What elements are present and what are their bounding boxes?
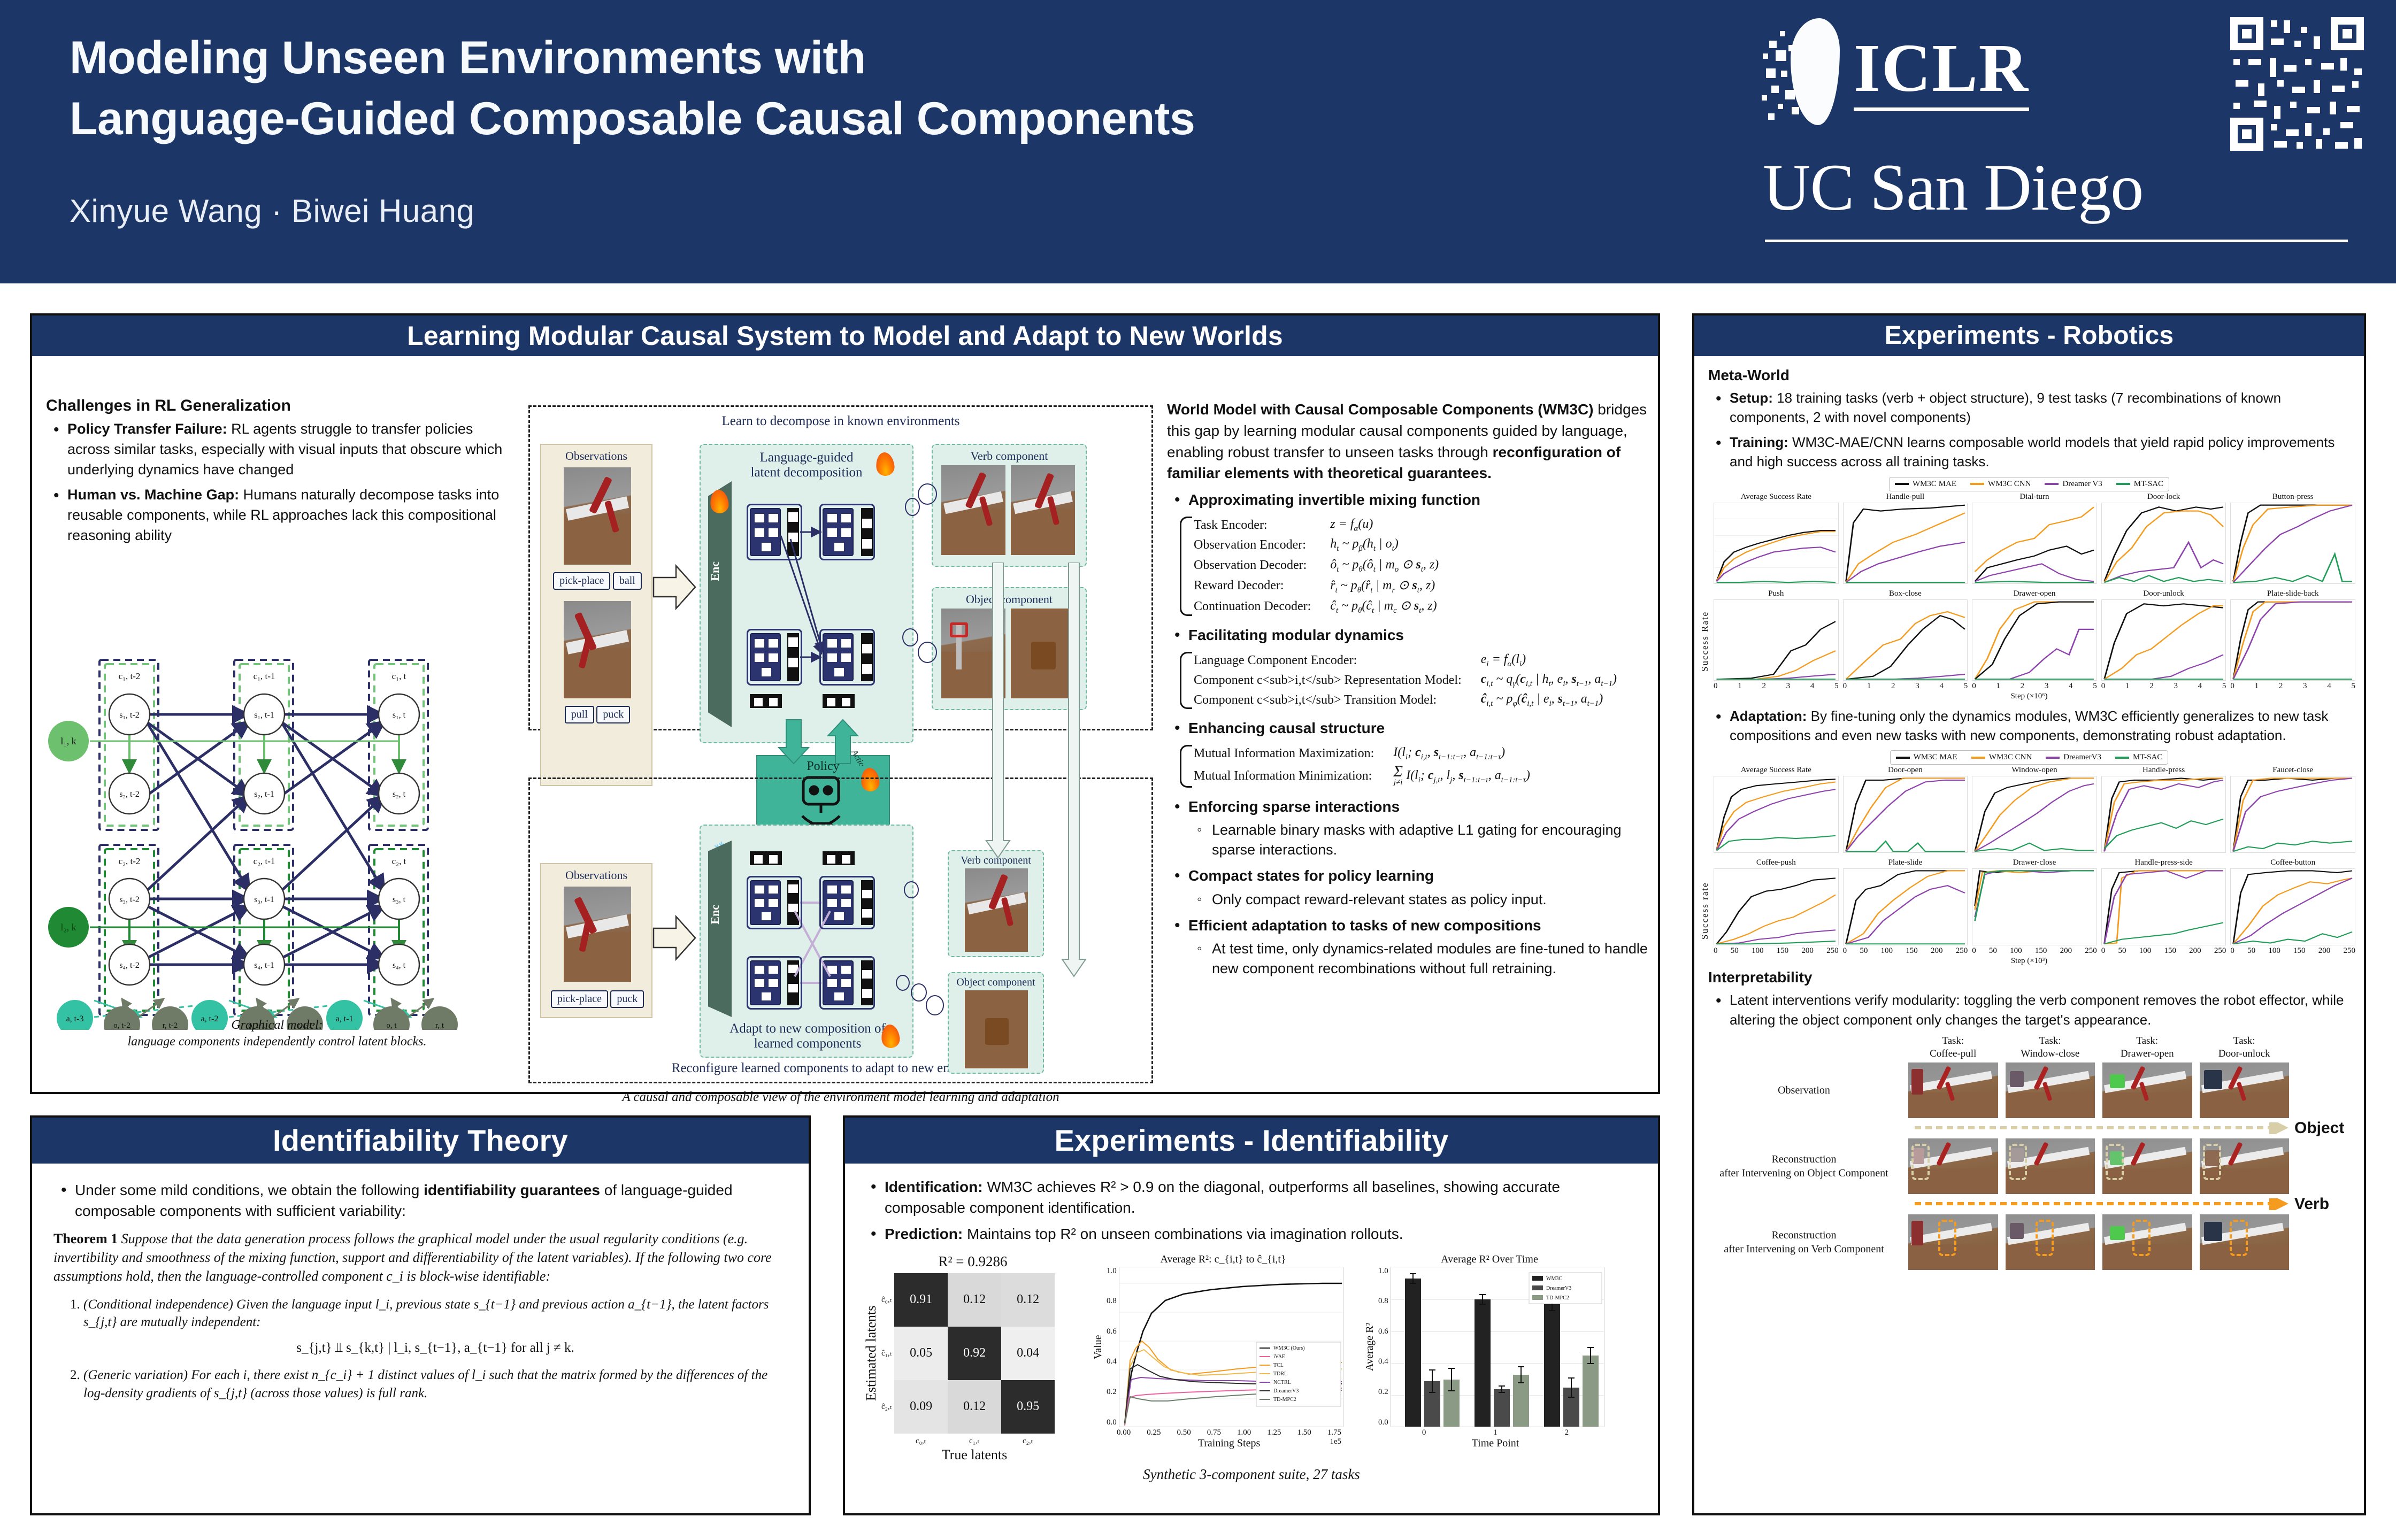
- panel-exp-identifiability: Experiments - Identifiability Identifica…: [843, 1115, 1660, 1515]
- method-bullet-label: Enhancing causal structure: [1188, 720, 1385, 736]
- xtick-row: 012345: [2101, 682, 2226, 691]
- challenge-item: Human vs. Machine Gap: Humans naturally …: [46, 485, 517, 545]
- observations-label: Observations: [541, 449, 651, 463]
- bar-xtick: 2: [1531, 1428, 1602, 1437]
- svg-text:s₂, t-2: s₂, t-2: [119, 790, 140, 799]
- robotics-bullet: Adaptation: By fine-tuning only the dyna…: [1708, 706, 2350, 745]
- legend-label: Dreamer V3: [2062, 480, 2102, 489]
- interp-image: [1908, 1062, 1998, 1118]
- theorem-label: Theorem 1: [53, 1231, 118, 1246]
- identifiability-bullet: Under some mild conditions, we obtain th…: [53, 1180, 787, 1221]
- line-xtick: 0.75: [1207, 1428, 1221, 1437]
- method-bullet: Facilitating modular dynamics: [1167, 625, 1648, 645]
- exp-bullet-label: Prediction:: [885, 1226, 963, 1242]
- eq-rhs: ht ~ pβ(ht | ot): [1330, 535, 1439, 555]
- interp-task-name: Coffee-pull: [1930, 1048, 1976, 1059]
- eq-rhs: Σ j≠i I(li; cj,t, lj, st−1:t−τ, at−1:t−τ…: [1393, 764, 1530, 789]
- arch-top-title: Learn to decompose in known environments: [528, 414, 1153, 429]
- mini-chart: Push: [1714, 589, 1839, 681]
- r2-bar-figure: Average R² Over Time Average R² 1.0 0.8 …: [1364, 1253, 1615, 1450]
- bar-xtick: 0: [1388, 1428, 1460, 1437]
- robotics-intro: Meta-World Setup: 18 training tasks (ver…: [1694, 356, 2364, 472]
- heatmap-cell: 0.12: [948, 1380, 1001, 1434]
- heatmap-cell: 0.92: [948, 1327, 1001, 1380]
- mini-chart-title: Handle-press-side: [2101, 858, 2226, 867]
- thought-bubbles-icon: [900, 878, 939, 915]
- arrow-right-icon: [652, 561, 697, 613]
- method-subbullet: Learnable binary masks with adaptive L1 …: [1188, 820, 1648, 860]
- component-reuse-arrows: [985, 563, 1017, 862]
- line-chart-title: Average R²: c_{i,t} to ĉ_{i,t}: [1092, 1253, 1354, 1266]
- metaworld-heading: Meta-World: [1708, 367, 2350, 384]
- bar-ytick: 0.2: [1378, 1388, 1388, 1397]
- component-outline: [747, 876, 802, 929]
- mini-chart-title: Handle-pull: [1843, 492, 1968, 502]
- eq-lhs: Component c<sub>i,t</sub> Representation…: [1194, 671, 1481, 690]
- eq-lhs: Mutual Information Maximization:: [1194, 744, 1393, 764]
- svg-text:s₃, t: s₃, t: [393, 895, 406, 904]
- theorem-block: Theorem 1 Suppose that the data generati…: [53, 1230, 787, 1285]
- y-axis-label: Success rate: [1700, 779, 1710, 940]
- assumption-text: (Generic variation) For each i, there ex…: [83, 1368, 767, 1400]
- iclr-brain-icon: [1760, 15, 1840, 130]
- object-thumbnail: [965, 990, 1028, 1068]
- line-xtick: 0.25: [1147, 1428, 1161, 1437]
- arrow-right-icon: [652, 912, 697, 964]
- verb-thumbnail: [941, 465, 1005, 555]
- eq-rhs: ci,t ~ qγ(ci,t | ht, ei, st−1, at−1): [1481, 671, 1617, 690]
- mini-chart: Button-press: [2230, 492, 2355, 584]
- interp-image: [2006, 1138, 2095, 1194]
- robotics-bullet-text: WM3C-MAE/CNN learns composable world mod…: [1730, 434, 2334, 469]
- legend-item: WM3C CNN: [1971, 753, 2032, 762]
- ucsd-underline: [1765, 240, 2348, 242]
- thought-bubbles-icon: [903, 482, 938, 520]
- line-xtick: 1.00: [1237, 1428, 1251, 1437]
- interp-task-name: Door-unlock: [2218, 1048, 2270, 1059]
- eq-lhs: Observation Encoder:: [1194, 535, 1330, 555]
- svg-text:c₁, t: c₁, t: [392, 671, 406, 681]
- interp-image: [2102, 1214, 2192, 1270]
- heatmap-cell: 0.12: [1001, 1273, 1055, 1327]
- method-subbullet: At test time, only dynamics-related modu…: [1188, 939, 1648, 979]
- exp-bullet-label: Identification:: [885, 1179, 983, 1195]
- svg-text:s₁, t-2: s₁, t-2: [119, 711, 140, 720]
- equation-group-mixing: Task Encoder: z = fα(u) Observation Enco…: [1180, 515, 1648, 617]
- robotics-bullet-label: Setup:: [1730, 390, 1773, 406]
- eq-lhs: Component c<sub>i,t</sub> Transition Mod…: [1194, 690, 1481, 710]
- svg-text:WM3C: WM3C: [1546, 1276, 1562, 1282]
- legend-item: WM3C MAE: [1896, 753, 1957, 762]
- mini-chart: Coffee-button: [2230, 858, 2355, 945]
- object-flow-arrow: [1908, 1122, 2289, 1134]
- eq-rhs: z = fα(u): [1330, 515, 1439, 535]
- object-component-label: Object component: [949, 976, 1043, 989]
- svg-text:TD-MPC2: TD-MPC2: [1273, 1397, 1296, 1403]
- component-outline: [819, 504, 875, 560]
- mini-chart-title: Faucet-close: [2230, 766, 2355, 775]
- heatmap-cell: 0.91: [894, 1273, 948, 1327]
- svg-text:s₄, t: s₄, t: [393, 961, 406, 970]
- mini-chart: Average Success Rate: [1714, 766, 1839, 853]
- eq-rhs: ei = fα(li): [1481, 651, 1617, 671]
- assumption-equation: s_{j,t} ⫫ s_{k,t} | l_i, s_{t−1}, a_{t−1…: [83, 1339, 787, 1357]
- svg-text:WM3C (Ours): WM3C (Ours): [1273, 1345, 1305, 1351]
- page-title: Modeling Unseen Environments with Langua…: [70, 28, 1727, 149]
- mini-chart-title: Push: [1714, 589, 1839, 598]
- bar-ytick: 0.6: [1378, 1327, 1388, 1336]
- legend-item: WM3C CNN: [1970, 480, 2031, 489]
- assumption-text: (Conditional independence) Given the lan…: [83, 1297, 769, 1330]
- training-chart-row-1: Average Success Rate Handle-pull Dial-t: [1705, 492, 2364, 584]
- mini-chart-title: Average Success Rate: [1714, 492, 1839, 502]
- svg-text:s₄, t-2: s₄, t-2: [119, 961, 140, 970]
- adaptation-chart-row-2: Coffee-push Plate-slide Drawer-close: [1705, 858, 2364, 945]
- legend-item: WM3C MAE: [1895, 480, 1956, 489]
- y-axis-label: Success Rate: [1700, 506, 1710, 672]
- robotics-adaptation-figure: WM3C MAE WM3C CNN DreamerV3 MT-SAC Succe…: [1694, 750, 2364, 966]
- interp-row-verb: [1908, 1214, 2289, 1270]
- mini-chart: Handle-press: [2101, 766, 2226, 853]
- observations-label: Observations: [541, 868, 651, 882]
- panel-main-title: Learning Modular Causal System to Model …: [32, 315, 1658, 356]
- xtick-row: 050100150200250: [2101, 946, 2226, 956]
- xtick-row: 012345: [1972, 682, 2097, 691]
- x-axis-label: Step (×10³): [1694, 957, 2364, 966]
- method-bullet-label: Efficient adaptation to tasks of new com…: [1188, 917, 1541, 934]
- mini-chart-title: Window-open: [1972, 766, 2097, 775]
- architecture-caption: A causal and composable view of the envi…: [525, 1090, 1156, 1105]
- mini-chart: Handle-pull: [1843, 492, 1968, 584]
- thought-bubbles-icon: [900, 627, 938, 665]
- component-outline: [819, 876, 875, 929]
- encoder-slab: Enc: [708, 481, 732, 727]
- interpretability-figure: Task:Coffee-pull Task:Window-close Task:…: [1694, 1035, 2364, 1270]
- bar-ytick: 0.4: [1378, 1357, 1388, 1366]
- x-exponent: 1e5: [1330, 1437, 1341, 1446]
- legend-item: MT-SAC: [2116, 480, 2163, 489]
- svg-text:l₁, k: l₁, k: [60, 736, 76, 746]
- line-xtick: 1.25: [1267, 1428, 1281, 1437]
- svg-text:l₂, k: l₂, k: [60, 922, 76, 933]
- heatmap-ytick: ĉ₁,ₜ: [881, 1348, 892, 1358]
- observation-thumbnail: [564, 467, 631, 565]
- line-ylabel: Value: [1092, 1267, 1104, 1427]
- xtick-row: 012345: [1843, 682, 1968, 691]
- title-line-1: Modeling Unseen Environments with: [70, 28, 1727, 89]
- heatmap-xtick: c₂,ₜ: [1023, 1436, 1033, 1446]
- method-bullet: Enforcing sparse interactions Learnable …: [1167, 796, 1648, 860]
- component-outline: [747, 956, 802, 1010]
- line-xtick: 1.50: [1297, 1428, 1311, 1437]
- mini-chart-title: Dial-turn: [1972, 492, 2097, 502]
- line-ytick: 0.8: [1107, 1297, 1117, 1306]
- assumption-item: (Generic variation) For each i, there ex…: [83, 1366, 787, 1402]
- svg-text:TD-MPC2: TD-MPC2: [1546, 1295, 1569, 1301]
- heatmap-cell: 0.09: [894, 1380, 948, 1434]
- method-bullet: Compact states for policy learning Only …: [1167, 865, 1648, 909]
- method-subbullet: Only compact reward-relevant states as p…: [1188, 890, 1648, 910]
- iclr-logo: ICLR: [1760, 15, 2029, 130]
- bar-xtick: 1: [1460, 1428, 1531, 1437]
- mini-chart: Box-close: [1843, 589, 1968, 681]
- heatmap-title: R² = 0.9286: [863, 1253, 1082, 1270]
- mini-chart: Handle-press-side: [2101, 858, 2226, 945]
- interp-task-header: Task:Drawer-open: [2102, 1035, 2192, 1060]
- component-outline: [819, 956, 875, 1010]
- line-ytick: 0.2: [1107, 1388, 1117, 1397]
- svg-text:c₂, t-1: c₂, t-1: [254, 856, 275, 866]
- interp-image: [2200, 1138, 2290, 1194]
- challenge-item: Policy Transfer Failure: RL agents strug…: [46, 419, 517, 480]
- interp-row-label-observation: Observation: [1705, 1083, 1903, 1097]
- exp-bullet-text: WM3C achieves R² > 0.9 on the diagonal, …: [885, 1179, 1560, 1216]
- bar-ytick: 0.8: [1378, 1297, 1388, 1306]
- mini-chart-title: Box-close: [1843, 589, 1968, 598]
- panel-exp-identifiability-title: Experiments - Identifiability: [845, 1118, 1658, 1164]
- eq-lhs: Reward Decoder:: [1194, 576, 1330, 597]
- gm-caption-line1: Graphical model:: [42, 1017, 512, 1034]
- line-ytick: 0.4: [1107, 1357, 1117, 1366]
- mini-chart: Window-open: [1972, 766, 2097, 853]
- observation-thumbnail: [564, 601, 631, 698]
- adaptation-chart-row-1: Average Success Rate Door-open Window-op…: [1705, 766, 2364, 853]
- challenges-block: Challenges in RL Generalization Policy T…: [46, 397, 517, 551]
- legend-label: WM3C CNN: [1988, 480, 2031, 489]
- tag-verb: pick-place: [551, 990, 608, 1008]
- tag-verb: pick-place: [553, 572, 610, 590]
- mini-chart: Coffee-push: [1714, 858, 1839, 945]
- robotics-training-figure: WM3C MAE WM3C CNN Dreamer V3 MT-SAC Succ…: [1694, 477, 2364, 701]
- eq-lhs: Observation Decoder:: [1194, 555, 1330, 576]
- object-component-box-bottom: Object component: [948, 972, 1044, 1074]
- interp-image: [2006, 1214, 2095, 1270]
- svg-text:s₁, t: s₁, t: [393, 711, 406, 720]
- mini-chart-title: Door-lock: [2101, 492, 2226, 502]
- robotics-bullet-text: 18 training tasks (verb + object structu…: [1730, 390, 2281, 425]
- action-bar: [823, 851, 855, 865]
- mini-chart-title: Average Success Rate: [1714, 766, 1839, 775]
- xtick-row: 050100150200250: [1843, 946, 1968, 956]
- mini-chart-title: Drawer-close: [1972, 858, 2097, 867]
- method-bullet: Approximating invertible mixing function: [1167, 489, 1648, 510]
- mini-chart: Door-unlock: [2101, 589, 2226, 681]
- legend-label: WM3C MAE: [1914, 753, 1957, 762]
- heatmap-ylabel: Estimated latents: [863, 1273, 879, 1434]
- legend-label: WM3C CNN: [1989, 753, 2032, 762]
- heatmap-ytick: ĉ₂,ₜ: [881, 1402, 892, 1412]
- method-bullet-label: Approximating invertible mixing function: [1188, 491, 1480, 508]
- legend-label: MT-SAC: [2133, 753, 2162, 762]
- heatmap-figure: R² = 0.9286 Estimated latents ĉ₀,ₜ ĉ₁,ₜ …: [863, 1253, 1082, 1463]
- exp-bullet-text: Maintains top R² on unseen combinations …: [963, 1226, 1403, 1242]
- eq-lhs: Continuation Decoder:: [1194, 596, 1330, 617]
- interp-row-label-object: Reconstructionafter Intervening on Objec…: [1705, 1152, 1903, 1180]
- adaptation-xticks: 050100150200250 050100150200250 05010015…: [1705, 946, 2364, 956]
- xtick-row: 050100150200250: [1714, 946, 1839, 956]
- qr-code-icon: [2230, 17, 2364, 151]
- robotics-bullet: Setup: 18 training tasks (verb + object …: [1708, 388, 2350, 427]
- xtick-row: 050100150200250: [1972, 946, 2097, 956]
- robotics-bullet-label: Adaptation:: [1730, 708, 1807, 724]
- action-bar: [750, 694, 782, 708]
- encoder-label: Enc: [708, 561, 722, 581]
- component-outline: [819, 629, 875, 686]
- line-chart-svg: WM3C (Ours) iVAE TCL TDRL NCTRL DreamerV…: [1119, 1267, 1343, 1427]
- authors: Xinyue Wang · Biwei Huang: [70, 192, 474, 229]
- interp-row-object: [1908, 1138, 2289, 1194]
- svg-text:s₄, t-1: s₄, t-1: [254, 961, 274, 970]
- panel-robotics: Experiments - Robotics Meta-World Setup:…: [1692, 313, 2366, 1515]
- line-xtick: 1.75: [1327, 1428, 1341, 1437]
- exp-ident-bullet: Identification: WM3C achieves R² > 0.9 o…: [863, 1176, 1640, 1218]
- training-chart-row-2: Push Box-close Drawer-open: [1705, 589, 2364, 681]
- interp-image: [1908, 1214, 1998, 1270]
- mini-chart-title: Plate-slide: [1843, 858, 1968, 867]
- method-bullet-label: Enforcing sparse interactions: [1188, 798, 1400, 815]
- arch-observations-bottom: Observations pick-place puck: [540, 863, 652, 1018]
- svg-text:c₁, t-1: c₁, t-1: [254, 671, 275, 681]
- verb-arrow-label: Verb: [2294, 1195, 2353, 1213]
- mini-chart: Faucet-close: [2230, 766, 2355, 853]
- mini-chart: Door-open: [1843, 766, 1968, 853]
- logo-group: ICLR: [1760, 10, 2364, 272]
- thought-bubbles-icon: [894, 974, 946, 1017]
- panel-identifiability-title: Identifiability Theory: [32, 1118, 809, 1164]
- svg-text:c₁, t-2: c₁, t-2: [119, 671, 141, 681]
- training-xticks: 012345 012345 012345 012345 012345: [1705, 682, 2364, 691]
- robotics-adaptation: Adaptation: By fine-tuning only the dyna…: [1694, 706, 2364, 745]
- bar-chart-svg: WM3C DreamerV3 TD-MPC2: [1391, 1267, 1604, 1427]
- mini-chart: Plate-slide: [1843, 858, 1968, 945]
- architecture-figure: Learn to decompose in known environments…: [525, 402, 1156, 1092]
- method-bullet: Enhancing causal structure: [1167, 718, 1648, 738]
- ident-bullet-pre: Under some mild conditions, we obtain th…: [75, 1182, 424, 1198]
- robotics-bullet-label: Training:: [1730, 434, 1788, 450]
- heatmap-grid: 0.91 0.12 0.12 0.05 0.92 0.04 0.09 0.12 …: [894, 1273, 1055, 1434]
- ident-bullet-bold: identifiability guarantees: [424, 1182, 600, 1198]
- legend-item: Dreamer V3: [2045, 480, 2102, 489]
- svg-text:TCL: TCL: [1273, 1362, 1284, 1368]
- eq-lhs: Language Component Encoder:: [1194, 651, 1481, 671]
- svg-text:DreamerV3: DreamerV3: [1546, 1285, 1571, 1291]
- interpretability-bullet: Latent interventions verify modularity: …: [1708, 990, 2350, 1029]
- svg-text:DreamerV3: DreamerV3: [1273, 1388, 1299, 1394]
- heatmap-cell: 0.05: [894, 1327, 948, 1380]
- heatmap-xtick: c₀,ₜ: [916, 1436, 926, 1446]
- line-ytick: 0.0: [1107, 1418, 1117, 1427]
- tag-verb: pull: [565, 706, 594, 723]
- mini-chart: Door-lock: [2101, 492, 2226, 584]
- mini-chart: Drawer-open: [1972, 589, 2097, 681]
- mini-chart-title: Door-open: [1843, 766, 1968, 775]
- mini-chart-title: Button-press: [2230, 492, 2355, 502]
- bar-ytick: 1.0: [1378, 1267, 1388, 1276]
- mini-chart: Dial-turn: [1972, 492, 2097, 584]
- interp-image: [2200, 1062, 2290, 1118]
- title-line-2: Language-Guided Composable Causal Compon…: [70, 89, 1727, 150]
- line-xtick: 0.50: [1177, 1428, 1191, 1437]
- component-outline: [747, 629, 802, 686]
- arch-bottom-title: Reconfigure learned components to adapt …: [528, 1061, 1153, 1076]
- eq-lhs: Mutual Information Minimization:: [1194, 764, 1393, 789]
- bar-ylabel: Average R²: [1364, 1267, 1376, 1427]
- graphical-model-figure: c₁, t-2c₁, t-1c₁, t c₂, t-2c₂, t-1c₂, t: [42, 656, 512, 1062]
- equation-group-dynamics: Language Component Encoder: ei = fα(li) …: [1180, 651, 1648, 710]
- observation-thumbnail: [564, 887, 631, 982]
- mini-chart: Plate-slide-back: [2230, 589, 2355, 681]
- iclr-wordmark: ICLR: [1854, 34, 2029, 111]
- svg-text:s₃, t-1: s₃, t-1: [254, 895, 274, 904]
- interp-image: [2006, 1062, 2095, 1118]
- interp-image: [2102, 1138, 2192, 1194]
- adapt-box: ❄ Enc: [700, 825, 913, 1058]
- line-xlabel: Training Steps: [1198, 1437, 1261, 1449]
- verb-component-label: Verb component: [933, 449, 1086, 463]
- x-axis-label: Step (×10⁶): [1694, 692, 2364, 701]
- policy-arrows: Action: [777, 718, 878, 766]
- legend-label: WM3C MAE: [1913, 480, 1956, 489]
- method-lead-bold1: World Model with Causal Composable Compo…: [1167, 401, 1594, 418]
- interp-row-label-verb: Reconstructionafter Intervening on Verb …: [1705, 1228, 1903, 1256]
- poster-header: Modeling Unseen Environments with Langua…: [0, 0, 2396, 283]
- interp-image: [1908, 1138, 1998, 1194]
- r2-line-figure: Average R²: c_{i,t} to ĉ_{i,t} Value 1.0…: [1092, 1253, 1354, 1450]
- mini-chart: Drawer-close: [1972, 858, 2097, 945]
- bar-ytick: 0.0: [1378, 1418, 1388, 1427]
- mini-chart-title: Coffee-button: [2230, 858, 2355, 867]
- action-bar: [750, 851, 782, 865]
- arch-observations-top: Observations pick-place ball pull: [540, 444, 652, 786]
- interp-task-name: Drawer-open: [2121, 1048, 2174, 1059]
- method-lead: World Model with Causal Composable Compo…: [1167, 399, 1648, 484]
- component-reuse-arrows: [1061, 563, 1093, 980]
- svg-text:s₂, t: s₂, t: [393, 790, 406, 799]
- robotics-bullet: Training: WM3C-MAE/CNN learns composable…: [1708, 433, 2350, 472]
- eq-rhs: I(li; ci,t, st−1:t−τ, at−1:t−τ): [1393, 744, 1530, 764]
- legend-item: DreamerV3: [2046, 753, 2101, 762]
- heatmap-xlabel: True latents: [894, 1447, 1055, 1463]
- chart-legend: WM3C MAE WM3C CNN DreamerV3 MT-SAC: [1890, 750, 2169, 765]
- graphical-model-caption: Graphical model: language components ind…: [42, 1017, 512, 1050]
- theorem-text: Suppose that the data generation process…: [53, 1231, 772, 1284]
- heatmap-cell: 0.12: [948, 1273, 1001, 1327]
- action-bar: [823, 694, 855, 708]
- interp-image: [2200, 1214, 2290, 1270]
- line-ytick: 0.6: [1107, 1327, 1117, 1336]
- eq-rhs: r̂t ~ pθ(r̂t | mr ⊙ st, z): [1330, 576, 1439, 597]
- gm-caption-line2: language components independently contro…: [42, 1034, 512, 1050]
- bar-xlabel: Time Point: [1388, 1437, 1602, 1450]
- svg-text:c₂, t: c₂, t: [392, 856, 406, 866]
- svg-text:iVAE: iVAE: [1273, 1354, 1285, 1360]
- legend-label: DreamerV3: [2063, 753, 2101, 762]
- mini-chart-title: Coffee-push: [1714, 858, 1839, 867]
- challenge-label: Policy Transfer Failure:: [67, 421, 227, 437]
- encoder-label: Enc: [708, 905, 722, 925]
- assumption-item: (Conditional independence) Given the lan…: [83, 1296, 787, 1357]
- interp-column-headers: Task:Coffee-pull Task:Window-close Task:…: [1908, 1035, 2289, 1060]
- interpretability-text: Interpretability Latent interventions ve…: [1694, 969, 2364, 1029]
- verb-thumbnail: [965, 868, 1028, 952]
- interpretability-heading: Interpretability: [1708, 969, 2350, 986]
- verb-thumbnail: [1011, 465, 1075, 555]
- xtick-row: 012345: [2230, 682, 2355, 691]
- panel-identifiability: Identifiability Theory Under some mild c…: [30, 1115, 811, 1515]
- exp-ident-bullet: Prediction: Maintains top R² on unseen c…: [863, 1223, 1640, 1244]
- mini-chart-title: Door-unlock: [2101, 589, 2226, 598]
- challenges-heading: Challenges in RL Generalization: [46, 397, 517, 415]
